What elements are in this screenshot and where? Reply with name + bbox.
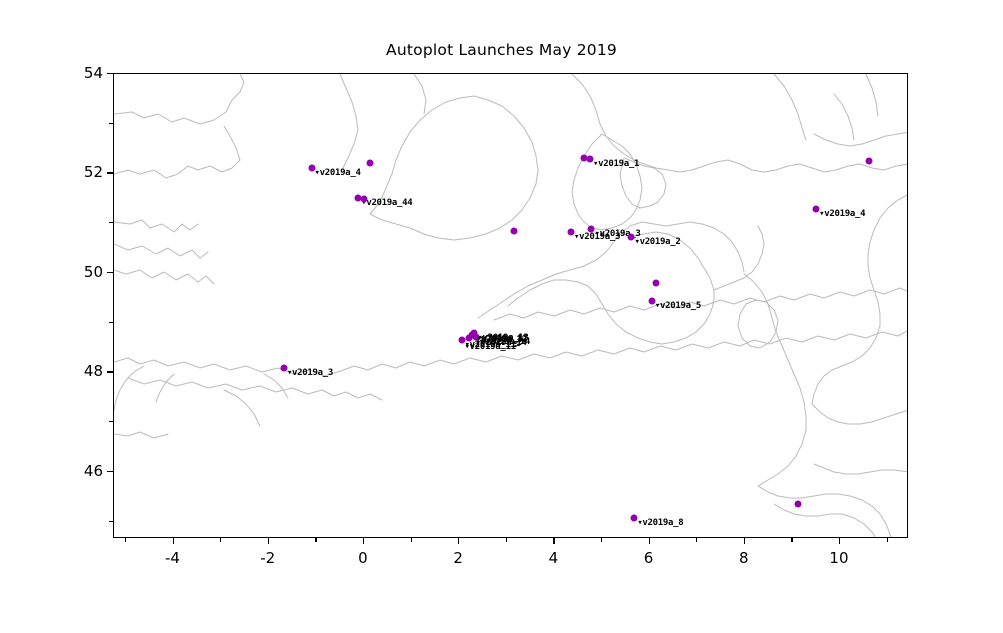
scatter-points: ▾v2019a_4▾v2019a_44▾v2019a_1▾v2019a_4▾v2…	[114, 74, 908, 538]
data-point	[465, 334, 472, 341]
data-point-label: ▾v2019a_3	[287, 369, 333, 378]
y-tick-minor	[109, 421, 113, 422]
y-tick-label: 54	[65, 64, 103, 82]
x-tick-label: 10	[829, 549, 848, 567]
x-tick-minor	[125, 538, 126, 542]
data-point	[580, 155, 587, 162]
data-point-label: ▾v2019a_8	[637, 519, 683, 528]
x-tick-minor	[601, 538, 602, 542]
y-tick-major	[107, 371, 113, 372]
y-tick-minor	[109, 222, 113, 223]
x-tick-minor	[411, 538, 412, 542]
x-tick-minor	[506, 538, 507, 542]
x-tick-label: 2	[453, 549, 463, 567]
x-tick-minor	[791, 538, 792, 542]
data-point-label: ▾v2019a_5	[655, 302, 701, 311]
x-tick-major	[744, 538, 745, 544]
y-tick-label: 46	[65, 462, 103, 480]
data-point	[795, 501, 802, 508]
x-tick-major	[553, 538, 554, 544]
x-tick-minor	[887, 538, 888, 542]
x-tick-label: -4	[165, 549, 180, 567]
x-tick-label: -2	[260, 549, 275, 567]
data-point	[652, 279, 659, 286]
x-tick-major	[458, 538, 459, 544]
y-tick-major	[107, 471, 113, 472]
y-tick-label: 50	[65, 263, 103, 281]
data-point-label: ▾v2019a_4	[315, 169, 361, 178]
cluster-point-label: ▾v2019a_11	[465, 343, 516, 352]
x-tick-major	[363, 538, 364, 544]
y-tick-major	[107, 73, 113, 74]
data-point	[865, 158, 872, 165]
x-tick-label: 6	[644, 549, 654, 567]
x-tick-minor	[315, 538, 316, 542]
x-tick-major	[649, 538, 650, 544]
y-tick-minor	[109, 322, 113, 323]
x-tick-minor	[696, 538, 697, 542]
y-tick-label: 52	[65, 163, 103, 181]
x-tick-label: 8	[739, 549, 749, 567]
y-tick-minor	[109, 123, 113, 124]
data-point-label: ▾v2019a_44	[361, 199, 412, 208]
page-title: Autoplot Launches May 2019	[0, 41, 1003, 59]
y-tick-major	[107, 172, 113, 173]
x-tick-major	[839, 538, 840, 544]
x-tick-label: 0	[358, 549, 368, 567]
y-tick-minor	[109, 521, 113, 522]
x-tick-major	[173, 538, 174, 544]
data-point-label: ▾v2019a_4	[819, 210, 865, 219]
figure-canvas: Autoplot Launches May 2019	[0, 0, 1003, 633]
x-tick-major	[268, 538, 269, 544]
plot-axes: ▾v2019a_4▾v2019a_44▾v2019a_1▾v2019a_4▾v2…	[113, 73, 908, 538]
x-tick-minor	[220, 538, 221, 542]
data-point	[366, 159, 373, 166]
data-point-label: ▾v2019a_2	[634, 238, 680, 247]
y-tick-major	[107, 272, 113, 273]
y-tick-label: 48	[65, 362, 103, 380]
data-point-label: ▾v2019a_1	[593, 160, 639, 169]
x-tick-label: 4	[549, 549, 559, 567]
data-point	[510, 227, 517, 234]
data-point	[360, 196, 367, 203]
